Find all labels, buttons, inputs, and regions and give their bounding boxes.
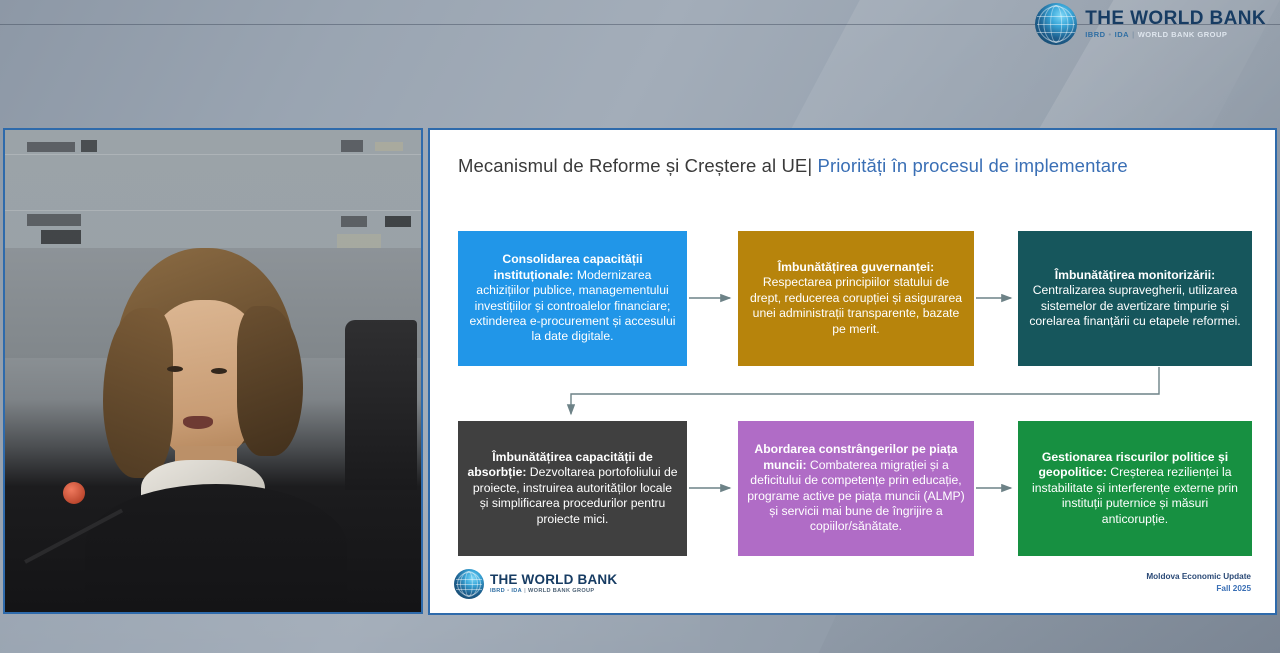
speaker-eye [211, 368, 227, 374]
slide-footer-ida: IDA [511, 588, 522, 594]
video-background-object [27, 214, 81, 226]
presentation-slide[interactable]: Mecanismul de Reforme și Creștere al UE|… [428, 128, 1277, 615]
slide-footer-edition: Fall 2025 [1146, 583, 1251, 595]
flow-box-monitoring[interactable]: Îmbunătățirea monitorizării: Centralizar… [1018, 231, 1252, 366]
speaker-figure [79, 248, 349, 614]
slide-footer-ibrd: IBRD [490, 588, 505, 594]
video-background-object [341, 216, 367, 227]
video-shelf-line [5, 154, 421, 155]
speaker-video-feed[interactable] [3, 128, 423, 614]
speaker-hair [103, 308, 173, 478]
header-logo-group: WORLD BANK GROUP [1138, 30, 1228, 39]
world-bank-globe-icon [454, 569, 484, 599]
header-logo-subtitle: IBRD•IDA|WORLD BANK GROUP [1085, 31, 1266, 39]
header-logo-pipe: | [1132, 30, 1135, 39]
flow-box-political-risks[interactable]: Gestionarea riscurilor politice și geopo… [1018, 421, 1252, 556]
slide-footer-world-bank-logo: THE WORLD BANK IBRD•IDA|WORLD BANK GROUP [454, 569, 617, 599]
video-shelf-line [5, 210, 421, 211]
flow-box-labour-market[interactable]: Abordarea constrângerilor pe piața munci… [738, 421, 974, 556]
header-logo-title: THE WORLD BANK [1085, 9, 1266, 28]
video-background-object [385, 216, 411, 227]
flow-box-heading: Îmbunătățirea monitorizării: [1055, 268, 1216, 282]
flow-box-governance[interactable]: Îmbunătățirea guvernanței: Respectarea p… [738, 231, 974, 366]
slide-footer-meta: Moldova Economic Update Fall 2025 [1146, 571, 1251, 595]
video-background-object [27, 142, 75, 152]
speaker-mouth [183, 416, 213, 429]
video-background-object [375, 142, 403, 151]
slide-footer-pipe: | [524, 588, 526, 594]
slide-footer-report-name: Moldova Economic Update [1146, 571, 1251, 583]
chair [345, 320, 417, 490]
flow-box-heading: Îmbunătățirea guvernanței: [778, 260, 934, 274]
header-logo-ida: IDA [1115, 30, 1129, 39]
header-logo-ibrd: IBRD [1085, 30, 1105, 39]
flow-box-body: Respectarea principiilor statului de dre… [750, 275, 962, 335]
flow-box-body: Centralizarea supravegherii, utilizarea … [1029, 283, 1240, 328]
video-background-object [41, 230, 81, 244]
video-background-object [81, 140, 97, 152]
slide-footer-dot: • [507, 588, 509, 594]
speaker-eye [167, 366, 183, 372]
microphone-head [63, 482, 85, 504]
speaker-hair [237, 306, 303, 456]
slide-footer-group: WORLD BANK GROUP [528, 588, 595, 594]
world-bank-globe-icon [1035, 3, 1077, 45]
header-world-bank-logo: THE WORLD BANK IBRD•IDA|WORLD BANK GROUP [1035, 3, 1266, 45]
video-background-object [341, 140, 363, 152]
slide-footer-logo-title: THE WORLD BANK [490, 573, 617, 587]
flow-box-institutional-capacity[interactable]: Consolidarea capacității instituționale:… [458, 231, 687, 366]
slide-footer-logo-subtitle: IBRD•IDA|WORLD BANK GROUP [490, 589, 617, 595]
flow-diagram: Consolidarea capacității instituționale:… [430, 130, 1275, 613]
flow-box-absorption-capacity[interactable]: Îmbunătățirea capacității de absorbție: … [458, 421, 687, 556]
header-logo-dot: • [1109, 30, 1112, 39]
speaker-torso [85, 484, 347, 614]
